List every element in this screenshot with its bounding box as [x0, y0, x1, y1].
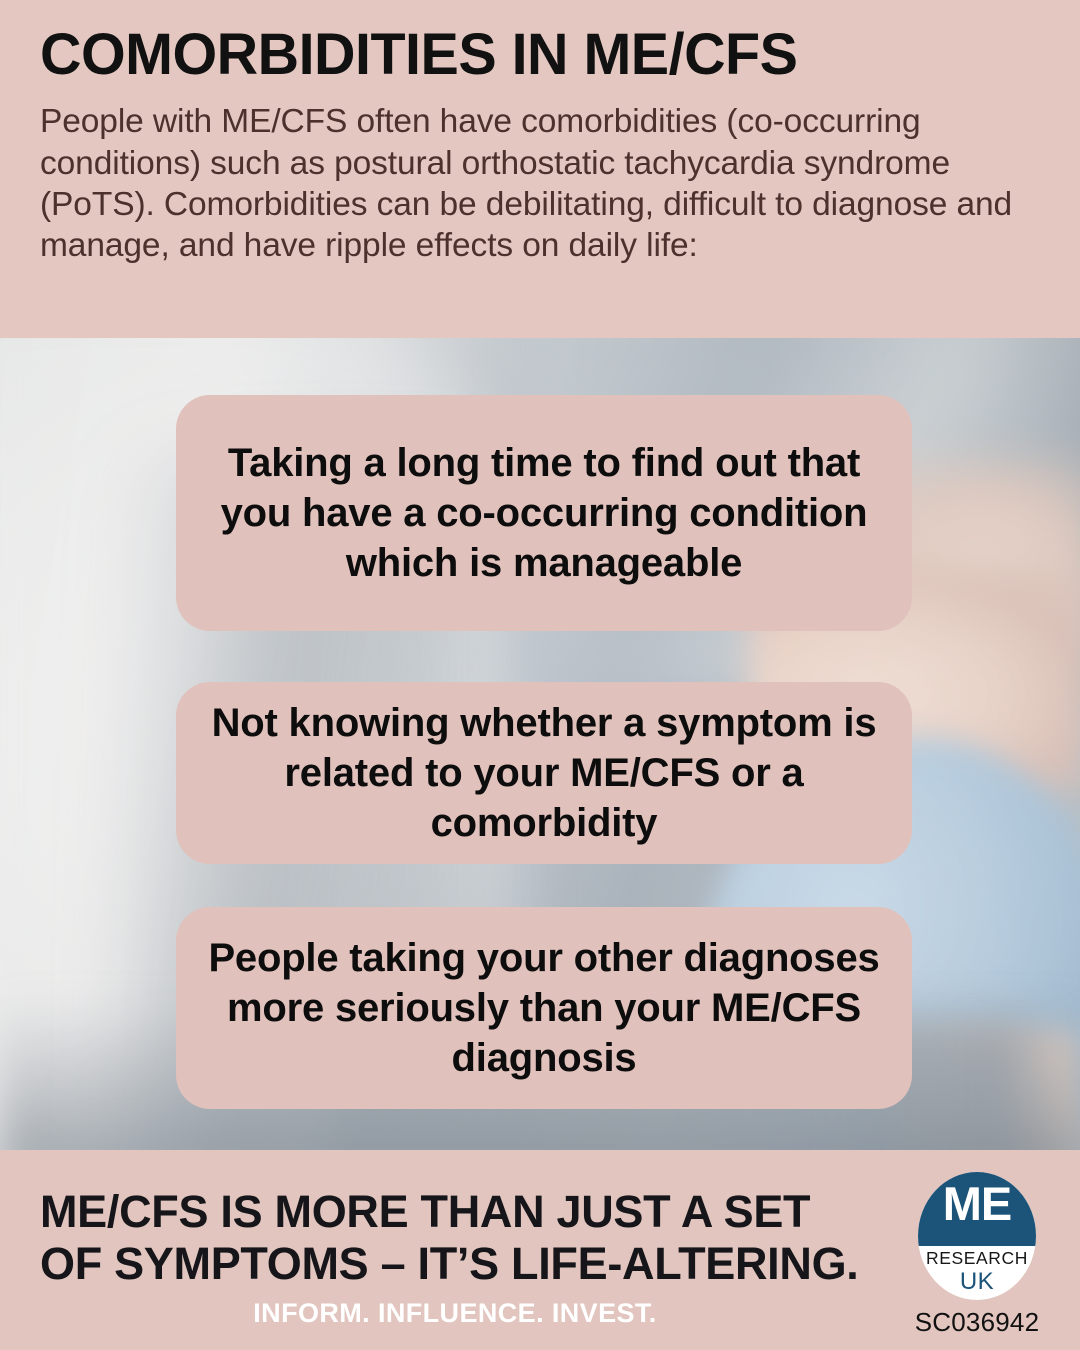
- header-section: COMORBIDITIES IN ME/CFS People with ME/C…: [0, 0, 1080, 338]
- impact-card-text: Not knowing whether a symptom is related…: [204, 698, 884, 848]
- logo-research-text: RESEARCH: [918, 1248, 1036, 1269]
- charity-number: SC036942: [902, 1307, 1052, 1338]
- footer-section: ME/CFS IS MORE THAN JUST A SET OF SYMPTO…: [0, 1150, 1080, 1350]
- intro-paragraph: People with ME/CFS often have comorbidit…: [40, 101, 1040, 266]
- logo-me-wordmark: ME: [918, 1180, 1036, 1227]
- impact-card-text: Taking a long time to find out that you …: [204, 438, 884, 588]
- logo-uk-text: UK: [918, 1268, 1036, 1296]
- impact-card: Taking a long time to find out that you …: [176, 395, 912, 631]
- impact-card-text: People taking your other diagnoses more …: [204, 933, 884, 1083]
- logo-circle-icon: ME RESEARCH UK: [918, 1172, 1036, 1300]
- impact-card: People taking your other diagnoses more …: [176, 907, 912, 1109]
- infographic-poster: COMORBIDITIES IN ME/CFS People with ME/C…: [0, 0, 1080, 1350]
- impact-card: Not knowing whether a symptom is related…: [176, 682, 912, 864]
- footer-headline: ME/CFS IS MORE THAN JUST A SET OF SYMPTO…: [40, 1186, 880, 1290]
- page-title: COMORBIDITIES IN ME/CFS: [40, 24, 1030, 85]
- footer-tagline: INFORM. INFLUENCE. INVEST.: [40, 1298, 870, 1329]
- me-research-uk-logo: ME RESEARCH UK SC036942: [902, 1172, 1052, 1338]
- impact-card-list: Taking a long time to find out that you …: [0, 338, 1080, 1150]
